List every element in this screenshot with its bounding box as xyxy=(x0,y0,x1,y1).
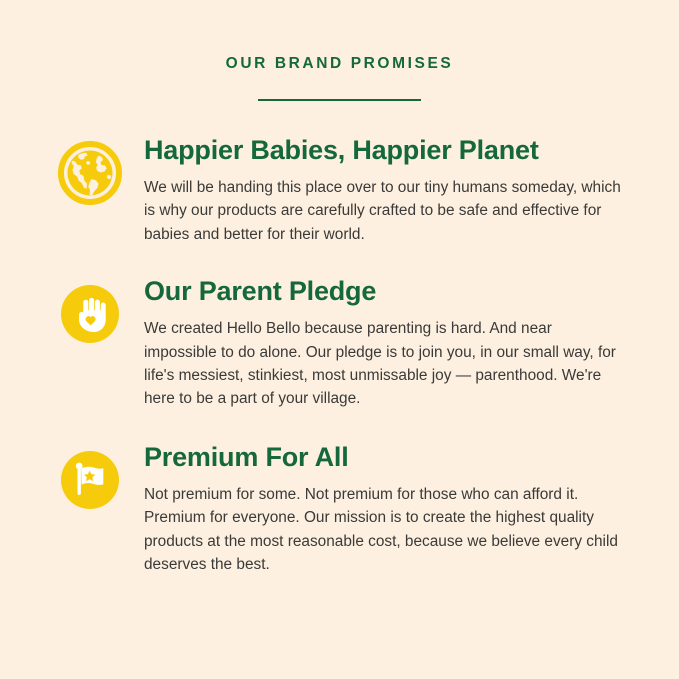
hand-heart-icon xyxy=(58,282,122,346)
promise-body: We will be handing this place over to ou… xyxy=(144,176,624,246)
globe-icon xyxy=(58,141,122,205)
flag-star-icon xyxy=(58,448,122,512)
brand-promises-page: OUR BRAND PROMISES xyxy=(0,0,679,679)
promise-title: Happier Babies, Happier Planet xyxy=(144,135,629,165)
promises-list: Happier Babies, Happier Planet We will b… xyxy=(0,135,679,577)
page-title: OUR BRAND PROMISES xyxy=(0,56,679,72)
promise-title: Premium For All xyxy=(144,442,629,472)
list-item: Premium For All Not premium for some. No… xyxy=(58,442,629,577)
promise-body: We created Hello Bello because parenting… xyxy=(144,317,624,411)
divider-wrap xyxy=(0,99,679,101)
promise-title: Our Parent Pledge xyxy=(144,276,629,306)
promise-text: Premium For All Not premium for some. No… xyxy=(144,442,629,577)
promise-text: Our Parent Pledge We created Hello Bello… xyxy=(144,276,629,411)
promise-body: Not premium for some. Not premium for th… xyxy=(144,483,624,577)
list-item: Our Parent Pledge We created Hello Bello… xyxy=(58,276,629,411)
page-header: OUR BRAND PROMISES xyxy=(0,0,679,101)
list-item: Happier Babies, Happier Planet We will b… xyxy=(58,135,629,246)
title-divider xyxy=(258,99,421,101)
promise-text: Happier Babies, Happier Planet We will b… xyxy=(144,135,629,246)
